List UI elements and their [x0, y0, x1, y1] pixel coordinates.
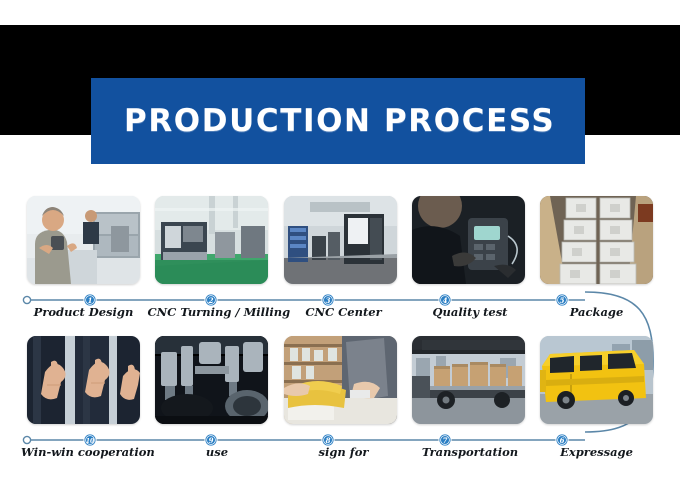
- step-image-cnc-turning-milling[interactable]: [155, 196, 268, 284]
- step-image-transportation[interactable]: [412, 336, 525, 424]
- title-banner: PRODUCTION PROCESS: [91, 78, 585, 164]
- flow-row-1-labels: Product Design CNC Turning / Milling CNC…: [27, 302, 653, 332]
- step-label-package: Package: [540, 302, 653, 332]
- flow-row-1: 1 2 3 4: [0, 196, 680, 336]
- step-image-use[interactable]: [155, 336, 268, 424]
- step-label-win-win-cooperation: Win-win cooperation: [21, 442, 147, 472]
- flow-row-2-labels: Win-win cooperation use sign for Transpo…: [27, 442, 653, 472]
- step-label-expressage: Expressage: [540, 442, 653, 472]
- step-label-quality-test: Quality test: [414, 302, 527, 332]
- step-label-cnc-center: CNC Center: [287, 302, 400, 332]
- step-image-package[interactable]: [540, 196, 653, 284]
- step-label-sign-for: sign for: [287, 442, 400, 472]
- step-label-transportation: Transportation: [414, 442, 527, 472]
- step-image-product-design[interactable]: [27, 196, 140, 284]
- step-image-cnc-center[interactable]: [284, 196, 397, 284]
- flow-row-2: 10 9 8 7: [0, 336, 680, 476]
- flow-row-1-cards: [27, 196, 653, 288]
- step-label-cnc-turning-milling: CNC Turning / Milling: [148, 302, 274, 332]
- step-image-win-win-cooperation[interactable]: [27, 336, 140, 424]
- step-label-product-design: Product Design: [27, 302, 140, 332]
- page-title: PRODUCTION PROCESS: [91, 103, 555, 139]
- step-label-use: use: [161, 442, 274, 472]
- flow-row-2-cards: [27, 336, 653, 428]
- step-image-expressage[interactable]: [540, 336, 653, 424]
- step-image-sign-for[interactable]: [284, 336, 397, 424]
- step-image-quality-test[interactable]: [412, 196, 525, 284]
- production-process-infographic: PRODUCTION PROCESS: [0, 0, 680, 488]
